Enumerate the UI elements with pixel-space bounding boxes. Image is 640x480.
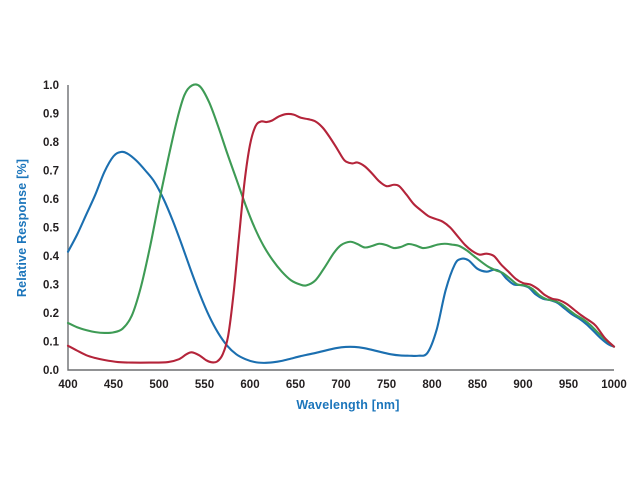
x-tick-label: 1000 [601, 379, 627, 391]
x-tick-label: 650 [286, 379, 305, 391]
y-tick-label: 1.0 [43, 80, 59, 92]
series-line-red-channel [68, 114, 614, 363]
x-tick-label: 800 [422, 379, 441, 391]
x-tick-label: 900 [513, 379, 532, 391]
x-axis-title: Wavelength [nm] [296, 398, 399, 412]
x-tick-label: 950 [559, 379, 578, 391]
x-tick-label: 750 [377, 379, 396, 391]
x-tick-label: 550 [195, 379, 214, 391]
x-tick-label: 450 [104, 379, 123, 391]
y-tick-label: 0.4 [43, 251, 60, 263]
x-tick-label: 600 [240, 379, 259, 391]
y-tick-labels: 0.00.10.20.30.40.50.60.70.80.91.0 [43, 80, 60, 377]
x-tick-label: 500 [149, 379, 168, 391]
y-tick-label: 0.0 [43, 365, 59, 377]
x-tick-label: 400 [58, 379, 77, 391]
y-axis-title: Relative Response [%] [15, 159, 29, 297]
series-line-blue-channel [68, 152, 614, 363]
axes [68, 85, 614, 370]
y-tick-label: 0.8 [43, 137, 60, 149]
spectral-response-chart: 0.00.10.20.30.40.50.60.70.80.91.0 400450… [0, 0, 640, 480]
x-tick-label: 700 [331, 379, 350, 391]
x-tick-label: 850 [468, 379, 487, 391]
y-tick-label: 0.2 [43, 308, 59, 320]
y-tick-label: 0.7 [43, 166, 59, 178]
series-lines [68, 84, 614, 362]
chart-canvas: 0.00.10.20.30.40.50.60.70.80.91.0 400450… [0, 0, 640, 480]
axis-spines [68, 85, 614, 370]
y-tick-label: 0.6 [43, 194, 59, 206]
y-tick-label: 0.5 [43, 223, 60, 235]
y-tick-label: 0.3 [43, 280, 59, 292]
y-tick-label: 0.9 [43, 109, 59, 121]
x-tick-labels: 4004505005506006507007508008509009501000 [58, 379, 626, 391]
y-tick-label: 0.1 [43, 337, 60, 349]
series-line-green-channel [68, 84, 614, 346]
